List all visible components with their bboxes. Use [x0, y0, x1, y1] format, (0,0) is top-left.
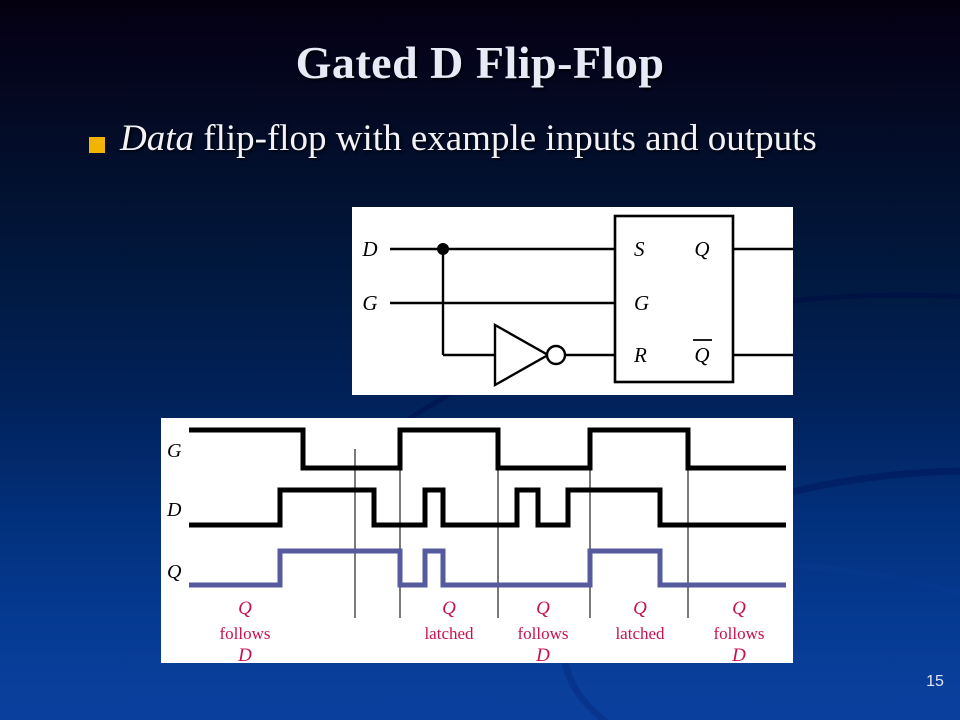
pin-label-s: S	[634, 237, 645, 261]
input-label-d: D	[361, 237, 377, 261]
annotation-0-line1: Q	[238, 598, 252, 619]
bullet-emphasis: Data	[120, 118, 194, 159]
waveform-label-g: G	[167, 440, 182, 462]
input-label-g: G	[362, 291, 377, 315]
page-title: Gated D Flip-Flop	[0, 36, 960, 89]
annotation-2-line2: follows	[518, 624, 569, 643]
pin-label-qbar: Q	[694, 343, 709, 367]
annotation-0-line3: D	[237, 645, 252, 663]
slide-number: 15	[918, 673, 952, 691]
waveform-label-q: Q	[167, 561, 182, 583]
pin-label-q: Q	[694, 237, 709, 261]
annotation-2-line3: D	[535, 645, 550, 663]
waveform-label-d: D	[166, 499, 182, 521]
bullet-item-text: Data flip-flop with example inputs and o…	[120, 116, 880, 163]
sr-latch-box	[615, 216, 733, 382]
waveform-q	[189, 551, 786, 585]
presentation-slide: Gated D Flip-Flop Data flip-flop with ex…	[0, 0, 960, 720]
annotation-4-line2: follows	[714, 624, 765, 643]
circuit-diagram-panel: D G S G R Q Q	[352, 207, 793, 395]
bullet-marker-icon	[89, 137, 105, 153]
wire-junction-dot-icon	[437, 243, 449, 255]
annotation-3-line2: latched	[615, 624, 665, 643]
timing-marker-lines	[355, 449, 688, 618]
annotation-2-line1: Q	[536, 598, 550, 619]
gated-d-flip-flop-circuit: D G S G R Q Q	[352, 207, 793, 395]
gated-d-flip-flop-timing: G D Q Q follows D Q latched Q follows D …	[161, 418, 793, 663]
annotation-3-line1: Q	[633, 598, 647, 619]
annotation-0-line2: follows	[220, 624, 271, 643]
not-gate-bubble-icon	[547, 346, 565, 364]
not-gate-icon	[495, 325, 548, 385]
bullet-rest: flip-flop with example inputs and output…	[194, 118, 817, 159]
timing-diagram-panel: G D Q Q follows D Q latched Q follows D …	[161, 418, 793, 663]
waveform-g	[189, 430, 786, 468]
pin-label-g: G	[634, 291, 649, 315]
annotation-4-line3: D	[731, 645, 746, 663]
pin-label-r: R	[633, 343, 647, 367]
waveform-d	[189, 490, 786, 525]
annotation-4-line1: Q	[732, 598, 746, 619]
timing-annotations: Q follows D Q latched Q follows D Q latc…	[220, 598, 765, 663]
annotation-1-line2: latched	[424, 624, 474, 643]
annotation-1-line1: Q	[442, 598, 456, 619]
